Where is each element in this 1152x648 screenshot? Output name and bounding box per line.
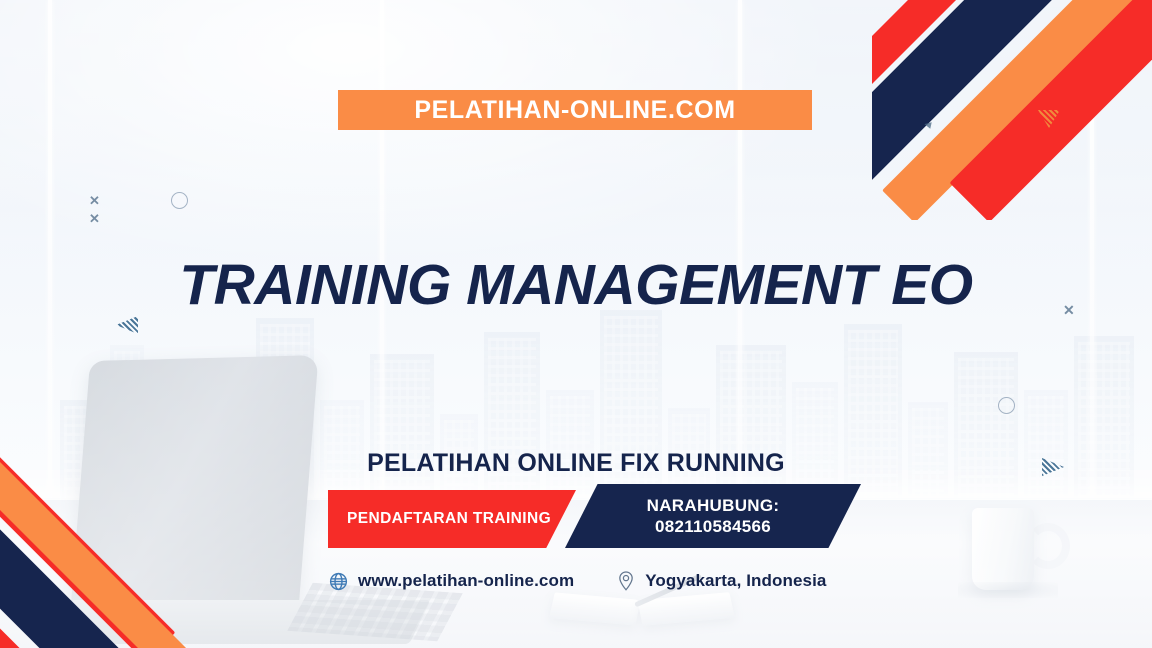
coffee-mug xyxy=(972,508,1034,590)
globe-icon xyxy=(328,571,349,592)
cta-group: PENDAFTARAN TRAINING NARAHUBUNG: 0821105… xyxy=(328,484,868,552)
contact-number: 082110584566 xyxy=(655,516,771,537)
registration-label: PENDAFTARAN TRAINING xyxy=(328,510,576,528)
promo-poster: ✕ ✕ ✕ ◂ PELATIHAN-ONLINE.COM TRAINING MA… xyxy=(0,0,1152,648)
location-info[interactable]: Yogyakarta, Indonesia xyxy=(616,570,826,592)
page-title: TRAINING MANAGEMENT EO xyxy=(0,252,1152,318)
top-right-stripe-decoration xyxy=(872,0,1152,220)
site-url-text: PELATIHAN-ONLINE.COM xyxy=(414,96,735,125)
x-mark-icon: ✕ xyxy=(89,212,100,225)
registration-button[interactable]: PENDAFTARAN TRAINING xyxy=(328,490,576,548)
circle-outline-icon xyxy=(998,397,1015,414)
contact-panel[interactable]: NARAHUBUNG: 082110584566 xyxy=(565,484,861,548)
website-text: www.pelatihan-online.com xyxy=(358,571,574,591)
page-subtitle: PELATIHAN ONLINE FIX RUNNING xyxy=(0,449,1152,478)
contact-label: NARAHUBUNG: xyxy=(647,495,780,516)
location-text: Yogyakarta, Indonesia xyxy=(645,571,826,591)
bottom-left-stripe-decoration xyxy=(0,388,290,648)
website-link[interactable]: www.pelatihan-online.com xyxy=(328,571,574,592)
x-mark-icon: ✕ xyxy=(89,194,100,207)
location-pin-icon xyxy=(616,570,636,592)
mug-shadow xyxy=(958,582,1058,598)
site-url-banner: PELATIHAN-ONLINE.COM xyxy=(338,90,812,130)
footer-contact-row: www.pelatihan-online.com Yogyakarta, Ind… xyxy=(328,566,848,596)
circle-outline-icon xyxy=(171,192,188,209)
